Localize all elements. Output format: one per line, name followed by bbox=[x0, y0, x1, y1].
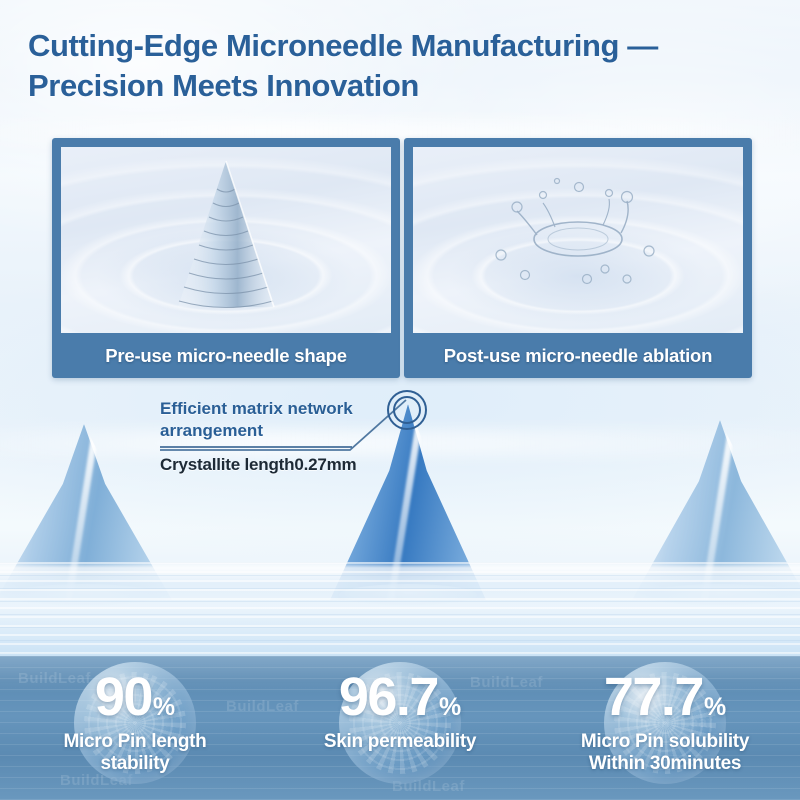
water-surface bbox=[0, 562, 800, 660]
callout-detail: Crystallite length0.27mm bbox=[160, 455, 410, 475]
stat-label-line2: Within 30minutes bbox=[589, 753, 741, 774]
stat-number: 96.7 bbox=[339, 667, 438, 727]
panel-pre-use: Pre-use micro-needle shape bbox=[52, 138, 400, 378]
stat-label-line1: Micro Pin length bbox=[64, 731, 207, 752]
stat-number: 90 bbox=[95, 667, 152, 727]
stat-value: 96.7% bbox=[267, 656, 533, 724]
callout-annotation: Efficient matrix network arrangement Cry… bbox=[160, 398, 410, 475]
stat-label: Micro Pin solubility Within 30minutes bbox=[532, 731, 798, 774]
panel-post-use-caption: Post-use micro-needle ablation bbox=[404, 333, 752, 378]
stat-unit: % bbox=[153, 693, 175, 721]
stat-label: Micro Pin length stability bbox=[2, 731, 268, 774]
callout-highlight: Efficient matrix network arrangement bbox=[160, 398, 410, 442]
stat-label: Skin permeability bbox=[267, 731, 533, 753]
panel-pre-use-caption: Pre-use micro-needle shape bbox=[52, 333, 400, 378]
stat-label-line1: Skin permeability bbox=[324, 731, 476, 752]
splash-droplets-illustration bbox=[413, 147, 743, 333]
callout-highlight-line1: Efficient matrix network bbox=[160, 399, 353, 418]
infographic-poster: Cutting-Edge Microneedle Manufacturing —… bbox=[0, 0, 800, 800]
page-title: Cutting-Edge Microneedle Manufacturing —… bbox=[28, 26, 768, 105]
stat-value: 90% bbox=[2, 656, 268, 724]
stat-skin-permeability: 96.7% Skin permeability bbox=[267, 656, 533, 800]
magnifier-icon bbox=[387, 390, 427, 430]
stat-value: 77.7% bbox=[532, 656, 798, 724]
stat-number: 77.7 bbox=[604, 667, 703, 727]
stat-label-line2: stability bbox=[100, 753, 169, 774]
stats-band: BuildLeaf BuildLeaf BuildLeaf BuildLeaf … bbox=[0, 656, 800, 800]
stat-label-line1: Micro Pin solubility bbox=[581, 731, 749, 752]
panel-post-use-photo bbox=[413, 147, 743, 333]
callout-divider bbox=[160, 446, 352, 448]
stat-unit: % bbox=[704, 693, 726, 721]
microneedle-cone-illustration bbox=[61, 147, 391, 333]
stat-unit: % bbox=[439, 693, 461, 721]
stat-micro-pin-solubility: 77.7% Micro Pin solubility Within 30minu… bbox=[532, 656, 798, 800]
panel-pre-use-photo bbox=[61, 147, 391, 333]
panel-post-use: Post-use micro-needle ablation bbox=[404, 138, 752, 378]
callout-highlight-line2: arrangement bbox=[160, 421, 263, 440]
stat-micro-pin-length-stability: 90% Micro Pin length stability bbox=[2, 656, 268, 800]
